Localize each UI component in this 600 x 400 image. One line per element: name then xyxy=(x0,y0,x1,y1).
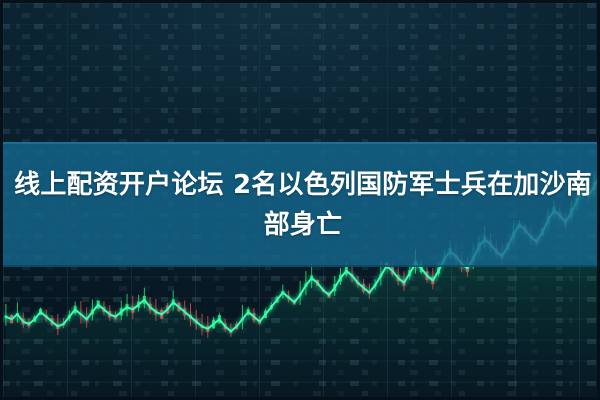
headline-container: 线上配资开户论坛 2名以色列国防军士兵在加沙南部身亡 xyxy=(3,142,600,267)
page-title: 线上配资开户论坛 2名以色列国防军士兵在加沙南部身亡 xyxy=(13,165,593,245)
news-thumbnail: 线上配资开户论坛 2名以色列国防军士兵在加沙南部身亡 xyxy=(0,0,600,400)
